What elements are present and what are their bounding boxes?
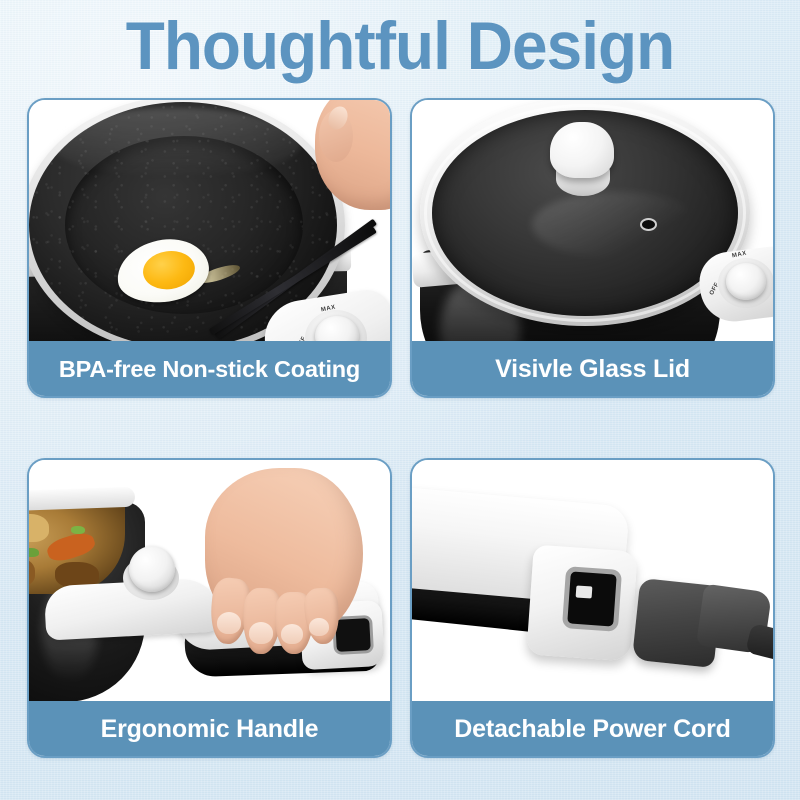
food-potato-piece bbox=[29, 514, 49, 542]
feature-caption-ergonomic-handle: Ergonomic Handle bbox=[27, 701, 392, 758]
temperature-knob[interactable] bbox=[726, 263, 766, 300]
feature-caption-detachable-power-cord: Detachable Power Cord bbox=[410, 701, 775, 758]
feature-card-detachable-power-cord[interactable]: Detachable Power Cord bbox=[410, 458, 775, 758]
food-carrot-slice bbox=[45, 529, 97, 565]
feature-image-ergonomic-handle bbox=[29, 460, 390, 705]
feature-image-glass-lid: OFF MAX bbox=[412, 100, 773, 345]
food-scallion-garnish bbox=[29, 548, 39, 557]
pan-gloss-highlight bbox=[51, 108, 301, 178]
feature-image-detachable-power-cord bbox=[412, 460, 773, 705]
fingernail bbox=[281, 624, 303, 644]
feature-card-ergonomic-handle[interactable]: Ergonomic Handle bbox=[27, 458, 392, 758]
temperature-knob[interactable] bbox=[129, 546, 175, 592]
power-socket bbox=[562, 566, 622, 632]
glass-lid-reflection bbox=[532, 192, 702, 258]
infographic-page: Thoughtful Design OFF MAX bbox=[0, 0, 800, 800]
fingernail bbox=[249, 622, 273, 644]
socket-pin bbox=[576, 585, 593, 598]
fingernail bbox=[217, 612, 241, 634]
food-meat-piece bbox=[29, 556, 35, 588]
steam-vent-hole bbox=[640, 218, 657, 231]
feature-card-non-stick-coating[interactable]: OFF MAX BPA-free Non-stick Coating bbox=[27, 98, 392, 398]
feature-caption-non-stick-coating: BPA-free Non-stick Coating bbox=[27, 341, 392, 398]
fingernail bbox=[309, 618, 329, 636]
feature-caption-glass-lid: Visivle Glass Lid bbox=[410, 341, 775, 398]
feature-image-non-stick-coating: OFF MAX bbox=[29, 100, 390, 345]
lid-knob[interactable] bbox=[550, 122, 614, 178]
feature-card-glass-lid[interactable]: OFF MAX Visivle Glass Lid bbox=[410, 98, 775, 398]
page-title: Thoughtful Design bbox=[24, 6, 776, 86]
food-scallion-garnish bbox=[71, 526, 85, 534]
